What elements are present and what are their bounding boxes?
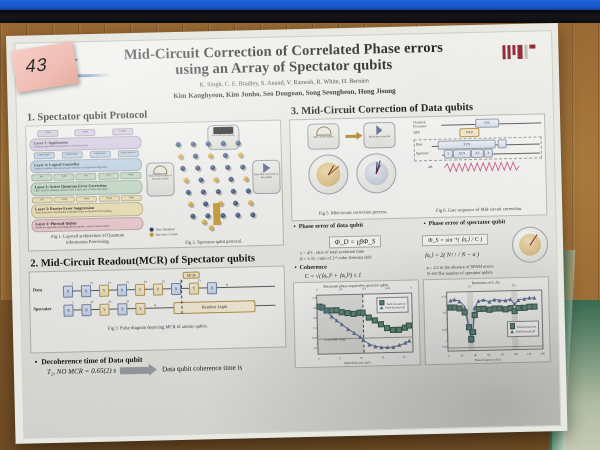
- results-charts: Maximum phase acquired by spectator qubi…: [293, 274, 551, 368]
- sine-wave-icon: [444, 161, 534, 173]
- chart-1-title: Harmonics of f_AC: [424, 277, 548, 286]
- x-tick: 15: [381, 356, 384, 359]
- fig5-caption: Fig 5. Mid-circuit correction process.: [295, 209, 411, 218]
- data-atom: [200, 189, 205, 194]
- data-point: [527, 296, 531, 300]
- data-point: [335, 318, 339, 322]
- chart-0-xlabel: RMS field noise (mG): [296, 359, 420, 366]
- delta-b-label: δBₓ: [428, 165, 433, 169]
- layer-chip: Optim: [75, 129, 96, 136]
- data-atom: [233, 201, 238, 206]
- data-point: [508, 297, 512, 301]
- pulse-gate: X: [81, 285, 91, 297]
- phi-d-equation: Φ_D = γβΦ_S: [328, 235, 381, 248]
- data-atom: [191, 142, 196, 147]
- correction-box: Real-time correction of data qubits: [252, 160, 281, 195]
- layer-chip: Enc: [31, 174, 52, 181]
- fig6-gate-sequence: Classical Processor CPU QPU MCR: [413, 117, 543, 214]
- chart-legend: Feed-forward onFeed-forward off: [376, 297, 408, 314]
- y-tick: 0.8: [305, 296, 316, 299]
- layer-chip: Dec: [76, 173, 97, 180]
- fig1-layered-architecture: ChemOptimCryptoLayer 5: ApplicationQuant…: [29, 127, 144, 248]
- chart-rms-field-noise: Maximum phase acquired by spectator qubi…: [293, 279, 421, 368]
- chart-legend: Feed-forward onFeed-forward off: [507, 320, 539, 337]
- tau-label: τ: [72, 281, 73, 285]
- legend-label: Feed-forward off: [516, 330, 535, 333]
- layer-chip: Logical gates: [61, 151, 82, 158]
- poster: KAIST Mid-Circuit Correction of Correlat…: [14, 30, 561, 439]
- pulse-gate: Y: [99, 304, 109, 316]
- poster-board: KAIST Mid-Circuit Correction of Correlat…: [6, 23, 567, 444]
- data-atom: [185, 190, 190, 195]
- data-point: [361, 338, 365, 342]
- data-point: [452, 298, 456, 302]
- architecture-layer: Layer 3: Active Quantum Error Correction…: [30, 180, 142, 196]
- readout-box: Mid-circuit readout of spectator qubits: [146, 162, 175, 197]
- data-atom: [223, 153, 228, 158]
- x-tick: 120: [527, 353, 531, 356]
- section-2-panel: MCR Data XτX2τY2τX2τY2τY2τX2τY2τXθ Spect…: [29, 266, 287, 354]
- layer-chip: Comp: [54, 196, 75, 203]
- chart-1-plot: 0.000.250.50.75020406080100120140fₐc3fₐc…: [446, 289, 543, 351]
- data-point: [533, 296, 537, 300]
- pulse-gate: Y: [135, 303, 145, 315]
- photo-scene: KAIST Mid-Circuit Correction of Correlat…: [0, 0, 600, 450]
- data-point: [471, 327, 475, 331]
- x-tick: 100: [514, 353, 518, 356]
- x-tick: 5: [339, 357, 340, 360]
- data-point: [522, 297, 526, 301]
- data-atom: [205, 213, 210, 218]
- spectator-atom: [183, 178, 188, 183]
- x-tick: 40: [474, 354, 477, 357]
- data-point: [346, 327, 350, 331]
- data-atom: [221, 141, 226, 146]
- mid-circuit-readout-icon: Mid-circuit readout: [307, 123, 340, 150]
- data-atom: [176, 142, 181, 147]
- legend-label: Feed-forward on: [517, 326, 536, 329]
- layer-chip: Shape: [99, 195, 120, 202]
- decoherence-conclusion: Data qubit coherence time is: [162, 364, 242, 374]
- architecture-layer: Layer 1: Physical QubitsHardware apparat…: [31, 217, 143, 233]
- top-tick: 3π/4: [385, 287, 390, 290]
- tau-label: 2τ: [198, 278, 201, 282]
- reload-atom: [201, 219, 206, 224]
- data-point: [462, 309, 468, 315]
- data-point: [482, 298, 486, 302]
- chart-0-plot: -0.20.000.20.40.60.8051015200π/4π/23π/4π…: [316, 293, 413, 355]
- data-point: [516, 298, 520, 302]
- data-atom: [245, 188, 250, 193]
- y-tick: -0.2: [306, 347, 317, 350]
- fig2-legend: Data: Rubidium Spectator: Cesium: [150, 227, 178, 238]
- x-tick: 20: [461, 354, 464, 357]
- data-atom: [236, 141, 241, 146]
- data-point: [352, 331, 356, 335]
- tau-label: 2τ: [162, 279, 165, 283]
- architecture-layer: Layer 5: ApplicationQuantum algorithms a…: [29, 136, 141, 152]
- layer-chip: DD: [31, 197, 52, 204]
- real-time-correction-icon: Real-time correction: [363, 122, 396, 149]
- spectator-atom: [243, 176, 248, 181]
- pulse-gate: X: [171, 283, 181, 295]
- data-atom: [190, 214, 195, 219]
- tau-label: τ: [72, 300, 73, 304]
- spectator-atom: [238, 152, 243, 157]
- data-atom: [225, 165, 230, 170]
- row-spectator: Spectator Y XYX XZ X: [416, 147, 540, 159]
- data-point: [325, 310, 329, 314]
- tau-label: 2τ: [90, 300, 93, 304]
- x-tick: 60: [488, 354, 491, 357]
- reload-arrow: [213, 203, 221, 225]
- x-tick: 10: [360, 357, 363, 360]
- spectator-atom: [248, 200, 253, 205]
- y-tick: 0.6: [305, 306, 316, 309]
- data-atom: [193, 154, 198, 159]
- harmonic-label: 3fₐc: [512, 284, 516, 287]
- layer-chip: Chem: [37, 130, 58, 137]
- data-point: [340, 322, 344, 326]
- top-tick: π/4: [339, 288, 343, 291]
- data-atom: [195, 165, 200, 170]
- y-tick: 0.2: [306, 327, 317, 330]
- spectator-atom: [188, 202, 193, 207]
- y-tick: 0.00: [306, 337, 317, 340]
- x-tick: 0: [318, 358, 319, 361]
- layer-chip: Logical state: [89, 151, 110, 158]
- arrow-icon: [120, 366, 150, 374]
- data-point: [476, 299, 480, 303]
- architecture-layer: Layer 4: Logical ControllerLogical compi…: [30, 158, 142, 174]
- top-tick: 0: [316, 289, 317, 292]
- y-tick: 0.4: [306, 316, 317, 319]
- left-column: 1. Spectator qubit Protocol ChemOptimCry…: [25, 104, 287, 377]
- data-point: [368, 342, 372, 346]
- sigma-y-equation: ⟨σᵧ⟩ = 2( N↑↑ / N − a ): [424, 250, 509, 259]
- data-point: [472, 306, 476, 310]
- pulse-gate: Y: [135, 284, 145, 296]
- pulse-row-data: Data XτX2τY2τX2τY2τY2τX2τY2τXθ: [63, 281, 275, 297]
- fig6-rows: Classical Processor CPU QPU MCR: [413, 117, 542, 173]
- section-3-panel: Mid-circuit readout Real-time correction: [289, 113, 547, 221]
- data-point: [392, 345, 396, 349]
- data-point: [374, 344, 378, 348]
- poster-header: KAIST Mid-Circuit Correction of Correlat…: [15, 31, 552, 110]
- bloch-sphere-spectator: [512, 226, 549, 263]
- theta-label: θ: [226, 283, 228, 287]
- data-point: [408, 338, 412, 342]
- chart-1-xlabel: Noise frequency (Hz): [426, 356, 550, 363]
- data-atom: [235, 213, 240, 218]
- layer-chip: Corr: [98, 173, 119, 180]
- data-atom: [206, 141, 211, 146]
- layer-chip: Logical read-out: [117, 150, 138, 157]
- data-point: [457, 299, 461, 303]
- t2-equation: T₂, NO MCR = 0.65(2) s: [47, 367, 116, 377]
- mit-logo: [502, 45, 535, 63]
- legend-label: Feed-forward off: [385, 307, 404, 310]
- chart-noise-frequency: Harmonics of f_AC Data qubit expectation…: [423, 276, 551, 365]
- theta-label: θ: [154, 304, 156, 308]
- data-atom: [250, 212, 255, 217]
- data-atom: [203, 201, 208, 206]
- pulse-gate: X: [117, 284, 127, 296]
- mcr-block: MCR: [459, 128, 479, 137]
- data-point: [487, 300, 491, 304]
- data-point: [398, 343, 402, 347]
- reload-atom: [209, 225, 214, 230]
- data-atom: [215, 189, 220, 194]
- architecture-layer: Layer 2: Passive Error SuppressionOpen-l…: [31, 202, 143, 218]
- tau-label: 2τ: [126, 299, 129, 303]
- top-tick: π: [410, 287, 411, 290]
- data-point: [386, 346, 390, 350]
- data-atom: [228, 177, 233, 182]
- fig3-caption: Fig 3. Pulse diagram depicting MCR of at…: [34, 322, 282, 334]
- pulse-gate: X: [81, 304, 91, 316]
- processing-box: Real-time processing: [207, 125, 240, 151]
- data-point: [471, 312, 477, 318]
- sticky-note-number: 43: [24, 52, 76, 78]
- y-tick: 0.00: [436, 345, 447, 348]
- layer-chip: Pulse: [76, 196, 97, 203]
- pulse-gate: Y: [153, 283, 163, 295]
- tau-label: 2τ: [90, 281, 93, 285]
- data-atom: [230, 189, 235, 194]
- layer-chip: Crypto: [112, 128, 133, 135]
- fig2-spectator-protocol: Real-time processing Mid-circuit readout…: [145, 124, 280, 239]
- phase-error-spectator-block: Phase error of spectator qubit Φ_S = sin…: [421, 215, 548, 277]
- data-point: [463, 305, 467, 309]
- phi-s-equation: Φ_S = sin⁻¹( ⟨σᵧ⟩ / C ): [422, 234, 489, 247]
- readout-light-band: Readout Light: [173, 300, 255, 314]
- data-point: [406, 323, 412, 329]
- data-atom: [220, 213, 225, 218]
- y-tick: 0.25: [436, 329, 447, 332]
- pulse-gate: Y: [99, 285, 109, 297]
- dark-band: [0, 10, 600, 24]
- bloch-sphere-after: [356, 153, 397, 194]
- tau-label: 2τ: [108, 281, 111, 285]
- pulse-row-spectator: Spectator XτX2τY2τX2τYθ Readout Light: [63, 300, 275, 316]
- right-column: 3. Mid-Circuit Correction of Data qubits…: [289, 97, 551, 370]
- y-tick: 0.75: [435, 295, 446, 298]
- data-point: [329, 314, 333, 318]
- legend-label: Feed-forward on: [387, 302, 406, 305]
- data-point: [498, 298, 502, 302]
- harmonic-label: fₐc: [468, 285, 471, 288]
- layer-chip: Meas: [121, 172, 142, 179]
- x-tick: 140: [541, 352, 545, 355]
- fig1-caption: Fig 1. Layered architecture of Quantum i…: [32, 232, 144, 247]
- pulse-gate: X: [117, 303, 127, 315]
- data-atom: [210, 165, 215, 170]
- layer-chip: Logical input: [33, 152, 54, 159]
- phase-error-data-block: Phase error of data qubit Φ_D = γβΦ_S γ …: [291, 218, 418, 280]
- data-atom: [198, 177, 203, 182]
- data-atom: [181, 166, 186, 171]
- fig3-pulse-diagram: MCR Data XτX2τY2τX2τY2τY2τX2τY2τXθ Spect…: [33, 270, 282, 336]
- spectator-atom: [213, 177, 218, 182]
- layer-chip: Filter: [121, 194, 142, 201]
- section-1-panel: ChemOptimCryptoLayer 5: ApplicationQuant…: [25, 120, 284, 252]
- pulse-gate: X: [63, 304, 73, 316]
- data-atom: [240, 164, 245, 169]
- data-point: [513, 302, 517, 306]
- tau-label: 2τ: [144, 280, 147, 284]
- data-point: [469, 339, 473, 343]
- x-tick: 0: [448, 355, 449, 358]
- x-tick: 80: [501, 353, 504, 356]
- tau-label: 2τ: [108, 300, 111, 304]
- section-3-equations: Phase error of data qubit Φ_D = γβΦ_S γ …: [291, 215, 548, 280]
- x-tick: 20: [403, 356, 406, 359]
- poster-columns: 1. Spectator qubit Protocol ChemOptimCry…: [17, 97, 559, 377]
- pulse-gate: X: [207, 282, 217, 294]
- chart-0-title: Maximum phase acquired by spectator qubi…: [294, 280, 418, 289]
- layer-chip: Synd: [53, 174, 74, 181]
- spectator-atom: [178, 154, 183, 159]
- data-point: [467, 323, 471, 327]
- data-point: [532, 304, 538, 310]
- spectator-atom: [208, 153, 213, 158]
- y-tick: 0.5: [436, 312, 447, 315]
- pulse-gate: Y: [189, 283, 199, 295]
- fig2-caption: Fig 2. Spectator qubit protocol.: [148, 238, 280, 247]
- tau-label: 2τ: [126, 280, 129, 284]
- bloch-sphere-before: [308, 154, 349, 195]
- data-point: [503, 299, 507, 303]
- data-point: [492, 298, 496, 302]
- top-tick: π/2: [362, 288, 366, 291]
- fig6-caption: Fig 6. Gate sequence of Mid-circuit corr…: [415, 205, 543, 214]
- data-point: [380, 345, 384, 349]
- pulse-gate: X: [63, 285, 73, 297]
- fig5-correction-process: Mid-circuit readout Real-time correction: [293, 121, 411, 218]
